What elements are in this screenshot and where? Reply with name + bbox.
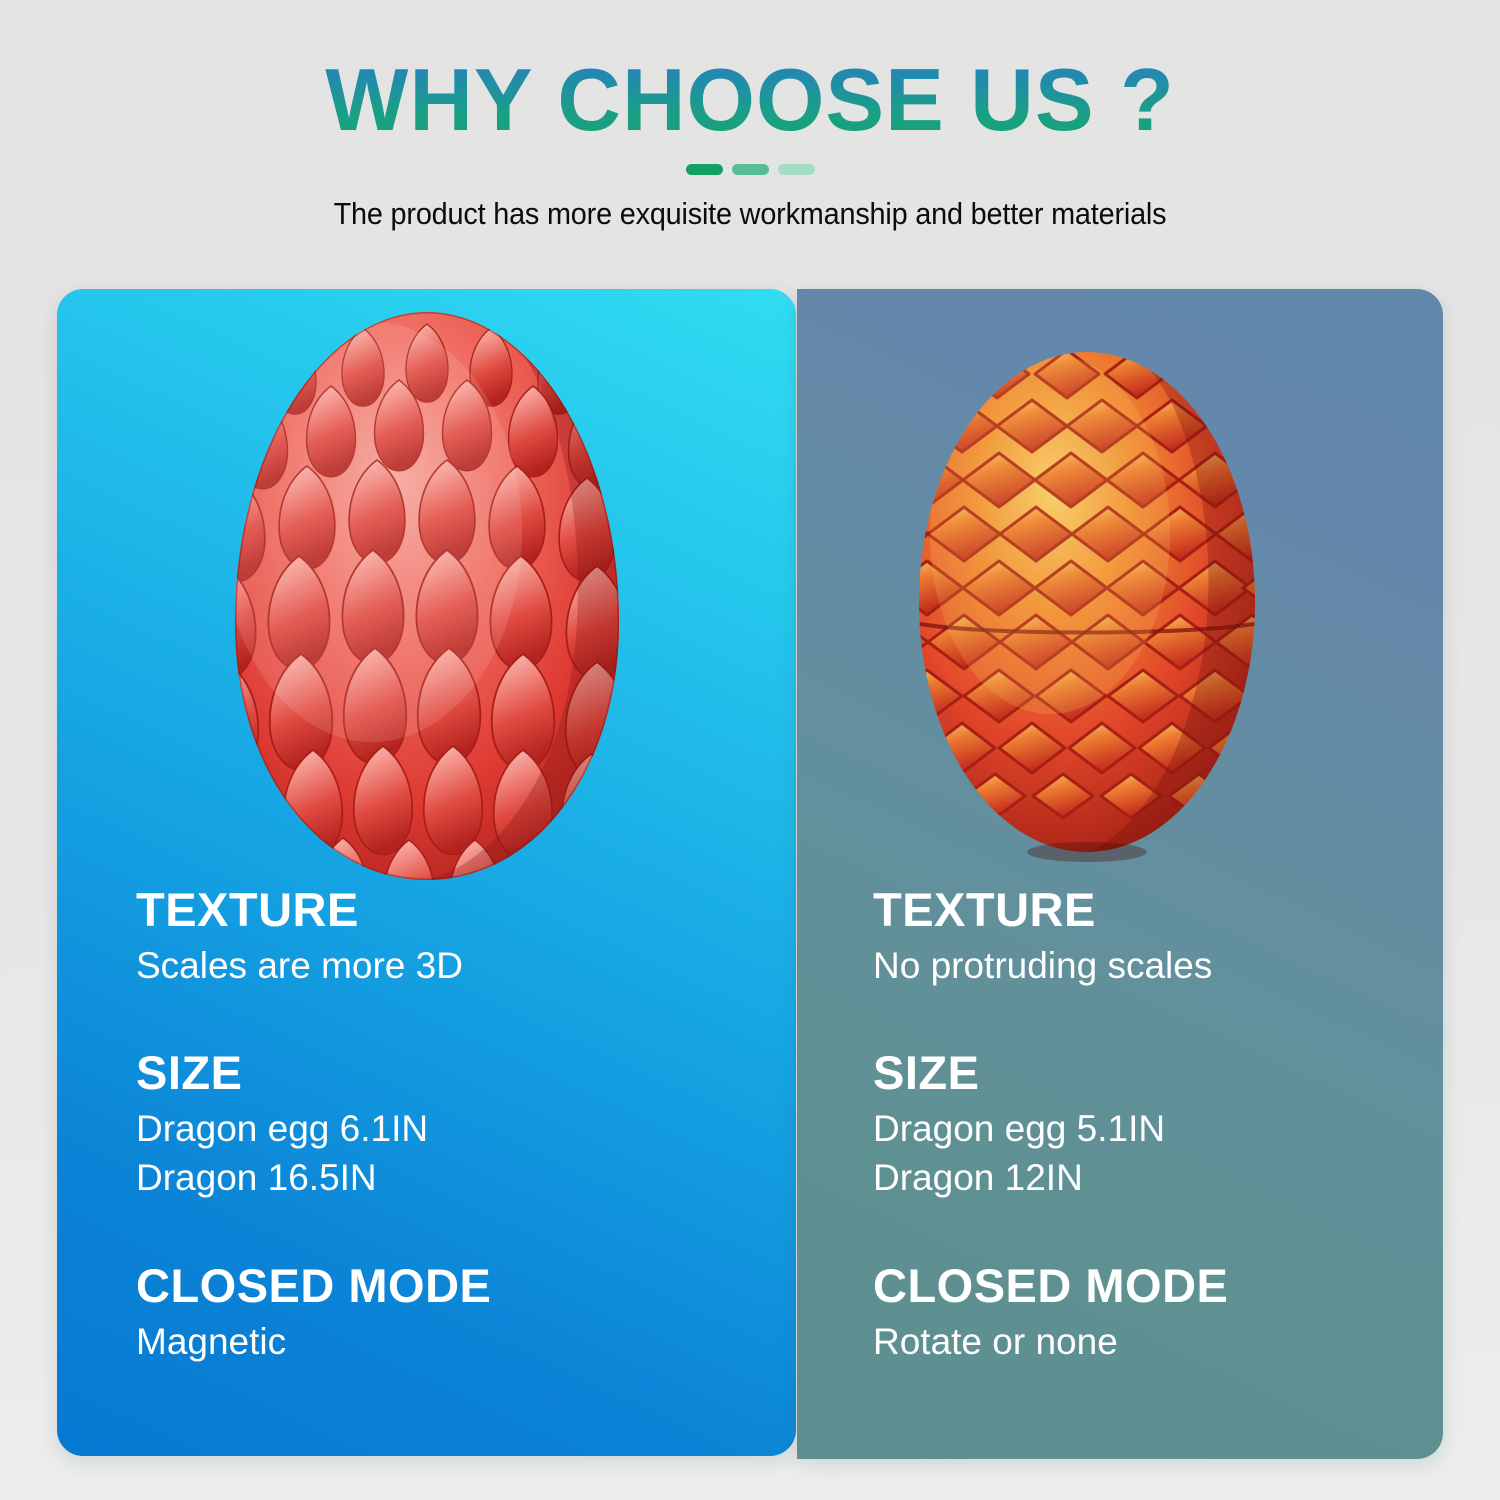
card-others: TEXTURE No protruding scales SIZE Dragon… bbox=[797, 289, 1443, 1459]
page-title: WHY CHOOSE US ? bbox=[0, 0, 1500, 146]
spec-list-ours: TEXTURE Scales are more 3D SIZE Dragon e… bbox=[57, 884, 796, 1366]
spec-list-others: TEXTURE No protruding scales SIZE Dragon… bbox=[797, 884, 1443, 1366]
spec-value-texture: Scales are more 3D bbox=[136, 941, 796, 991]
spec-label-texture: TEXTURE bbox=[136, 884, 796, 937]
product-image-ours bbox=[177, 302, 677, 892]
divider-dash-1 bbox=[686, 164, 723, 175]
comparison-infographic: WHY CHOOSE US ? The product has more exq… bbox=[0, 0, 1500, 1500]
spec-value-size-egg: Dragon egg 6.1IN bbox=[136, 1104, 796, 1154]
divider-dash-3 bbox=[778, 164, 815, 175]
egg-seam-line bbox=[910, 622, 1265, 633]
spec-texture: TEXTURE No protruding scales bbox=[873, 884, 1443, 990]
spec-texture: TEXTURE Scales are more 3D bbox=[136, 884, 796, 990]
divider bbox=[670, 164, 830, 175]
header: WHY CHOOSE US ? The product has more exq… bbox=[0, 0, 1500, 232]
spec-closed-mode: CLOSED MODE Rotate or none bbox=[873, 1260, 1443, 1366]
spec-label-closed-mode: CLOSED MODE bbox=[873, 1260, 1443, 1313]
divider-dash-2 bbox=[732, 164, 769, 175]
spec-value-closed-mode: Rotate or none bbox=[873, 1317, 1443, 1367]
spec-closed-mode: CLOSED MODE Magnetic bbox=[136, 1260, 796, 1366]
spec-value-closed-mode: Magnetic bbox=[136, 1317, 796, 1367]
spec-label-texture: TEXTURE bbox=[873, 884, 1443, 937]
spec-label-closed-mode: CLOSED MODE bbox=[136, 1260, 796, 1313]
spec-value-size-dragon: Dragon 16.5IN bbox=[136, 1153, 796, 1203]
spec-value-size-egg: Dragon egg 5.1IN bbox=[873, 1104, 1443, 1154]
spec-value-size-dragon: Dragon 12IN bbox=[873, 1153, 1443, 1203]
dragon-egg-flat-icon bbox=[890, 334, 1285, 864]
comparison-cards: TEXTURE Scales are more 3D SIZE Dragon e… bbox=[0, 289, 1500, 1459]
spec-label-size: SIZE bbox=[873, 1047, 1443, 1100]
spec-value-texture: No protruding scales bbox=[873, 941, 1443, 991]
product-image-others bbox=[890, 334, 1285, 864]
dragon-egg-pointed-icon bbox=[177, 302, 677, 892]
spec-label-size: SIZE bbox=[136, 1047, 796, 1100]
card-ours: TEXTURE Scales are more 3D SIZE Dragon e… bbox=[57, 289, 796, 1456]
spec-size: SIZE Dragon egg 5.1IN Dragon 12IN bbox=[873, 1047, 1443, 1203]
page-subtitle: The product has more exquisite workmansh… bbox=[53, 196, 1448, 232]
spec-size: SIZE Dragon egg 6.1IN Dragon 16.5IN bbox=[136, 1047, 796, 1203]
